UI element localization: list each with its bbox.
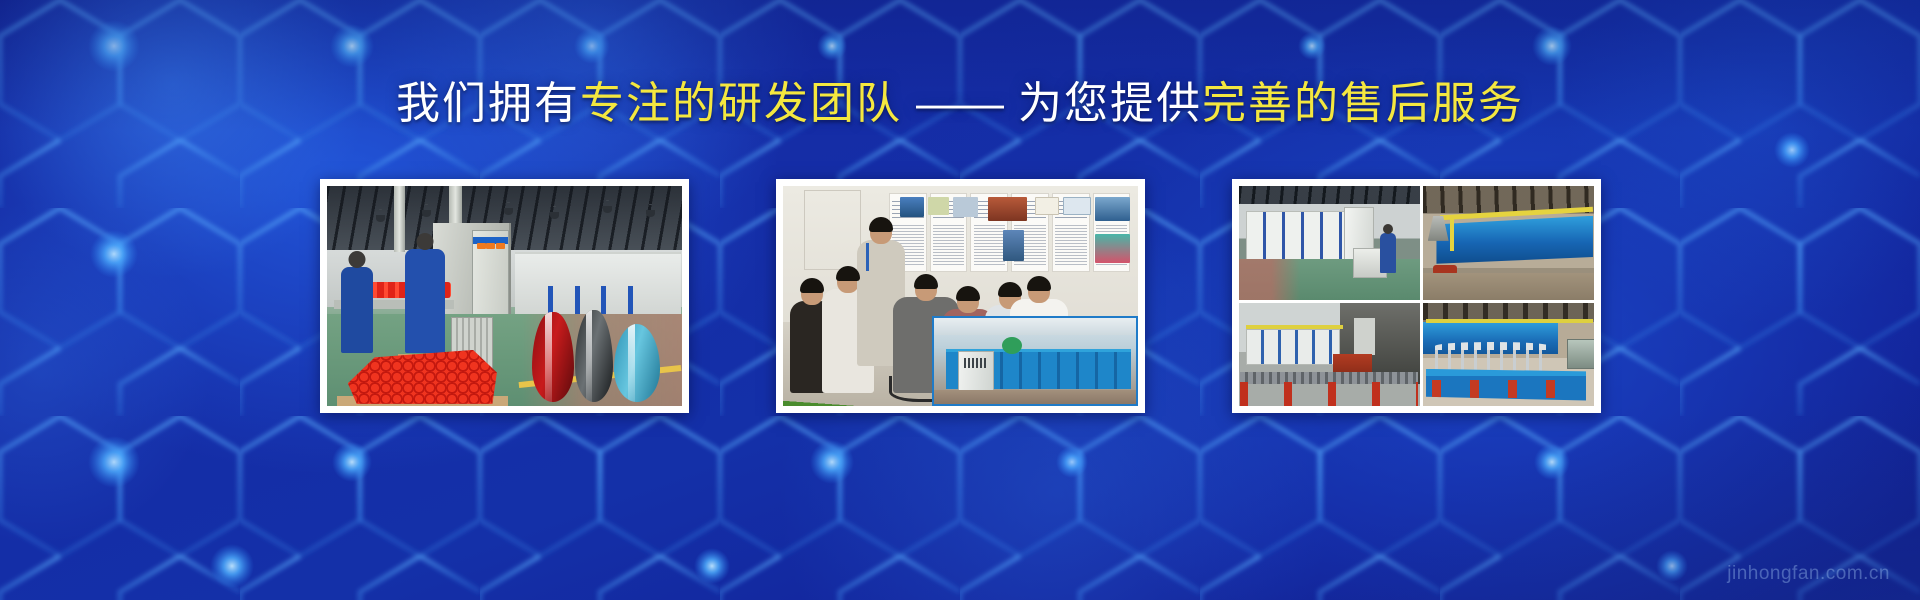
poster-photo [900, 197, 925, 217]
headline-segment-dash: —— [902, 79, 1018, 128]
poster-photo [953, 197, 978, 217]
door-frame [804, 190, 861, 269]
headline-segment-4: 完善的售后服务 [1202, 79, 1524, 128]
factory-worker [1380, 233, 1396, 273]
badge-lanyard [866, 243, 869, 271]
oven-post [628, 286, 633, 313]
exhaust-duct [394, 186, 405, 252]
indicator-light [477, 243, 486, 249]
poster-photo [928, 197, 949, 215]
ceiling-structure [1423, 303, 1594, 320]
workshop-floor [1423, 273, 1594, 300]
poster-certificate [1035, 197, 1060, 215]
site-watermark: jinhongfan.com.cn [1727, 563, 1890, 585]
factory-worker [341, 267, 373, 353]
poster-photo [1095, 197, 1131, 221]
equipment-cabinet [1567, 339, 1594, 369]
hanger-hooks [1435, 348, 1550, 371]
red-support-legs [1240, 382, 1417, 406]
coating-cabinets [1246, 211, 1358, 261]
promotional-banner: 我们拥有专注的研发团队——为您提供完善的售后服务 [0, 0, 1920, 600]
photo-1-factory-production-line [327, 186, 682, 406]
poster-diagram [1003, 230, 1024, 261]
photo-gallery-row [0, 179, 1920, 419]
ceiling-structure [1239, 186, 1420, 204]
collage-panel-coating-line [1239, 186, 1420, 300]
blue-rack-frame [1426, 369, 1586, 401]
blue-white-tanks [1246, 329, 1340, 365]
photo-frame-3[interactable] [1232, 179, 1601, 413]
headline-segment-1: 我们拥有 [396, 79, 580, 128]
photo-frame-2[interactable] [776, 179, 1145, 413]
headline-segment-2: 专注的研发团队 [580, 79, 902, 128]
product-vase-teal [614, 324, 660, 402]
inset-equipment-photo [932, 316, 1138, 406]
product-vase-red [532, 312, 574, 402]
factory-worker [405, 249, 445, 353]
indicator-light [496, 243, 505, 249]
workshop-ceiling [934, 318, 1136, 335]
poster-photo [1095, 234, 1131, 263]
product-vase-smoke [575, 310, 613, 402]
indicator-light [486, 243, 495, 249]
banner-headline: 我们拥有专注的研发团队——为您提供完善的售后服务 [0, 78, 1920, 129]
blue-tunnel-oven [1436, 216, 1593, 264]
photo-frame-1[interactable] [320, 179, 689, 413]
pendant-lamp-icon [376, 215, 385, 222]
workshop-floor [934, 390, 1136, 404]
poster-photo [988, 197, 1027, 221]
oven-post [548, 286, 553, 313]
yellow-beam [1246, 325, 1344, 329]
yellow-beam [1426, 319, 1593, 323]
collage-panel-hanger-rack [1423, 303, 1594, 406]
poster-certificate [1063, 197, 1091, 215]
collage-panel-conveyor-chain [1239, 303, 1420, 406]
photo-3-production-line-collage [1239, 186, 1594, 406]
tunnel-oven [515, 252, 682, 314]
yellow-gas-pipe [1450, 217, 1454, 251]
pendant-lamp-icon [504, 208, 513, 215]
palm-plant [783, 331, 890, 406]
headline-segment-3: 为您提供 [1018, 79, 1202, 128]
photo-2-technical-meeting [783, 186, 1138, 406]
collage-panel-blue-tunnel-oven [1423, 186, 1594, 300]
